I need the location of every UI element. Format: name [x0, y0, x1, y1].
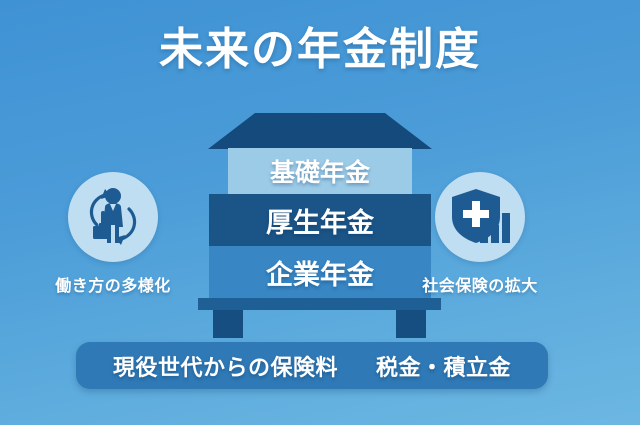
side-icon-label-insurance-expansion: 社会保険の拡大	[385, 272, 575, 296]
side-icon-label-work-diversity: 働き方の多様化	[18, 272, 208, 296]
pyramid-platform	[198, 298, 441, 310]
funding-sources-banner: 現役世代からの保険料 税金・積立金	[76, 342, 548, 389]
worker-flexibility-icon	[77, 181, 149, 253]
funding-source-tax-reserve: 税金・積立金	[376, 350, 511, 382]
shield-growth-icon	[444, 181, 516, 253]
pyramid-leg-right	[396, 310, 426, 338]
funding-source-premiums: 現役世代からの保険料	[113, 350, 338, 382]
pyramid-roof-icon	[208, 113, 432, 149]
icon-circle-right	[435, 172, 525, 262]
pyramid-tier-corporate-label: 企業年金	[266, 253, 374, 292]
pyramid-tier-employees-label: 厚生年金	[266, 201, 374, 240]
pyramid-tier-basic-label: 基礎年金	[270, 153, 370, 189]
side-icon-group-work-diversity: 働き方の多様化	[18, 172, 208, 296]
icon-circle-left	[68, 172, 158, 262]
pyramid-leg-left	[213, 310, 243, 338]
side-icon-group-insurance-expansion: 社会保険の拡大	[385, 172, 575, 296]
infographic-canvas: 未来の年金制度 基礎年金 厚生年金 企業年金	[0, 0, 640, 425]
